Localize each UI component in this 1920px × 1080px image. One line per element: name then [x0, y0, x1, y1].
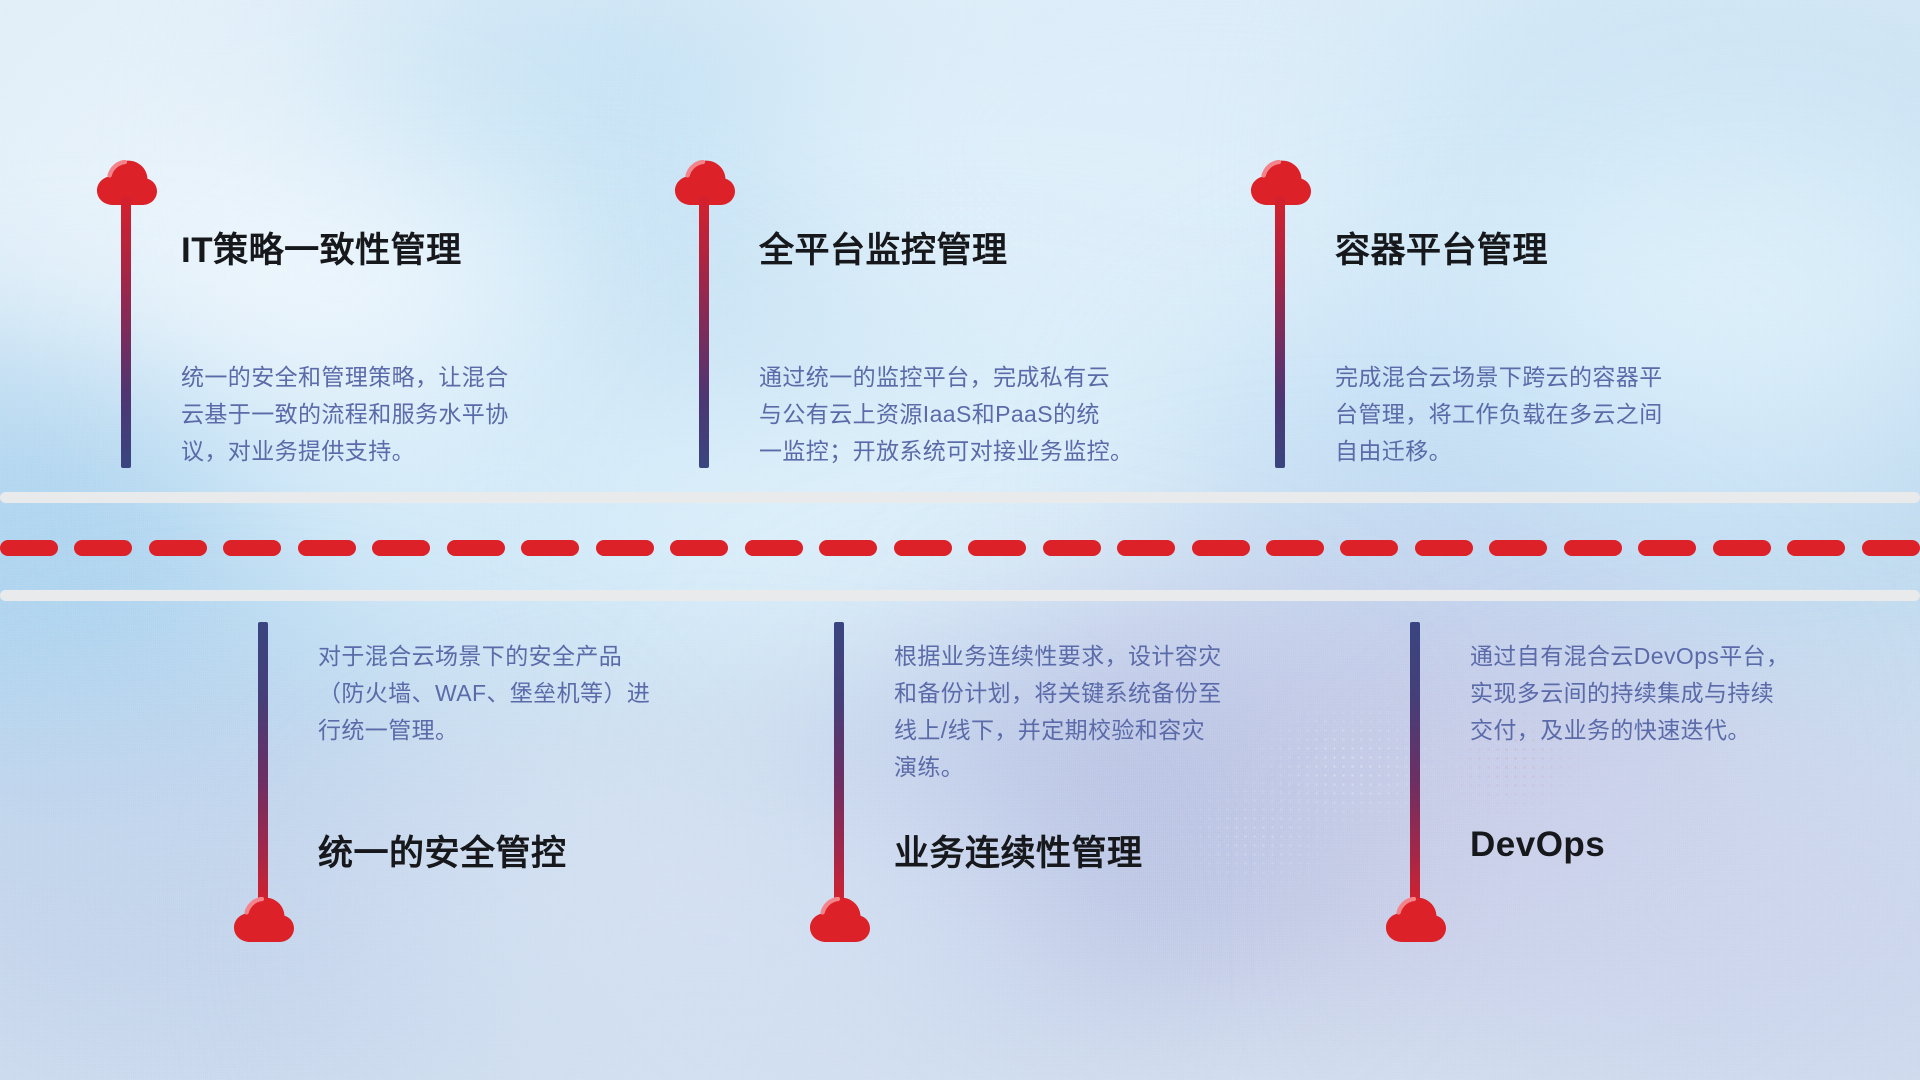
divider-dash-segment [1043, 540, 1101, 556]
divider-dash-segment [521, 540, 579, 556]
divider-dash-segment [1192, 540, 1250, 556]
divider-dash-segment [1564, 540, 1622, 556]
feature-heading: IT策略一致性管理 [181, 222, 462, 273]
divider-dash-segment [1638, 540, 1696, 556]
infographic-canvas: IT策略一致性管理 统一的安全和管理策略，让混合 云基于一致的流程和服务水平协 … [0, 0, 1920, 1080]
divider-dash-segment [1415, 540, 1473, 556]
cloud-icon [233, 897, 295, 943]
connector-line [699, 196, 709, 468]
feature-description: 统一的安全和管理策略，让混合 云基于一致的流程和服务水平协 议，对业务提供支持。 [181, 359, 611, 470]
feature-heading: 业务连续性管理 [894, 825, 1143, 876]
connector-line [1410, 622, 1420, 907]
divider-bar-bottom [0, 590, 1920, 601]
divider-dash-segment [447, 540, 505, 556]
divider-bar-top [0, 492, 1920, 503]
feature-heading: 容器平台管理 [1335, 222, 1548, 273]
divider-dash-segment [1266, 540, 1324, 556]
feature-heading: DevOps [1470, 825, 1605, 865]
divider-dash-segment [894, 540, 952, 556]
divider-dash-segment [1713, 540, 1771, 556]
divider-dash-segment [745, 540, 803, 556]
divider-dash-segment [0, 540, 58, 556]
divider-dash-segment [298, 540, 356, 556]
divider-dash-segment [1117, 540, 1175, 556]
feature-description: 通过自有混合云DevOps平台， 实现多云间的持续集成与持续 交付，及业务的快速… [1470, 638, 1900, 749]
divider-dash-segment [968, 540, 1026, 556]
connector-line [1275, 196, 1285, 468]
divider-dash-segment [819, 540, 877, 556]
divider-dash-segment [1340, 540, 1398, 556]
feature-description: 通过统一的监控平台，完成私有云 与公有云上资源IaaS和PaaS的统 一监控；开… [759, 359, 1209, 470]
divider-dash-segment [596, 540, 654, 556]
feature-description: 对于混合云场景下的安全产品 （防火墙、WAF、堡垒机等）进 行统一管理。 [318, 638, 748, 749]
divider-dash-segment [1489, 540, 1547, 556]
divider-dash-segment [223, 540, 281, 556]
connector-line [834, 622, 844, 907]
connector-line [258, 622, 268, 907]
divider-dash-segment [149, 540, 207, 556]
feature-heading: 统一的安全管控 [318, 825, 567, 876]
feature-description: 根据业务连续性要求，设计容灾 和备份计划，将关键系统备份至 线上/线下，并定期校… [894, 638, 1344, 786]
cloud-icon [809, 897, 871, 943]
divider-dash-segment [670, 540, 728, 556]
feature-heading: 全平台监控管理 [759, 222, 1008, 273]
divider-dash-segment [372, 540, 430, 556]
divider-dashed-line [0, 540, 1920, 556]
divider-dash-segment [1862, 540, 1920, 556]
feature-description: 完成混合云场景下跨云的容器平 台管理，将工作负载在多云之间 自由迁移。 [1335, 359, 1765, 470]
divider-dash-segment [1787, 540, 1845, 556]
connector-line [121, 196, 131, 468]
divider-dash-segment [74, 540, 132, 556]
cloud-icon [1385, 897, 1447, 943]
